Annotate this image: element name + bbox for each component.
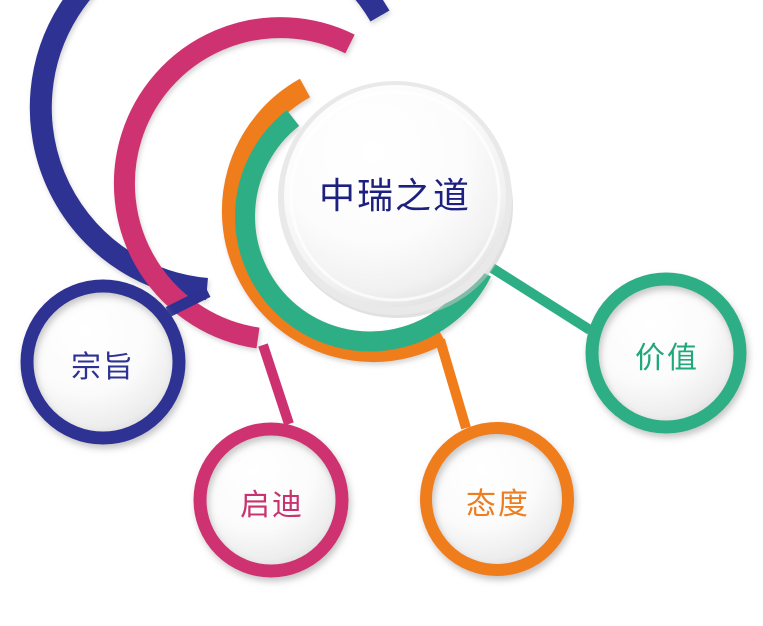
leaf-node-taidu[interactable] [426,428,568,570]
connector-qidi [263,345,289,424]
diagram-graphic [0,0,763,626]
center-node[interactable] [278,81,513,318]
leaf-node-zongzhi[interactable] [27,286,179,438]
center-sphere [284,85,506,307]
connector-jiazhi [492,268,590,330]
connector-taidu [440,340,466,428]
leaf-node-jiazhi[interactable] [592,279,740,427]
leaf-node-qidi[interactable] [200,429,342,571]
diagram-canvas: 中瑞之道 宗旨 启迪 态度 价值 [0,0,763,626]
